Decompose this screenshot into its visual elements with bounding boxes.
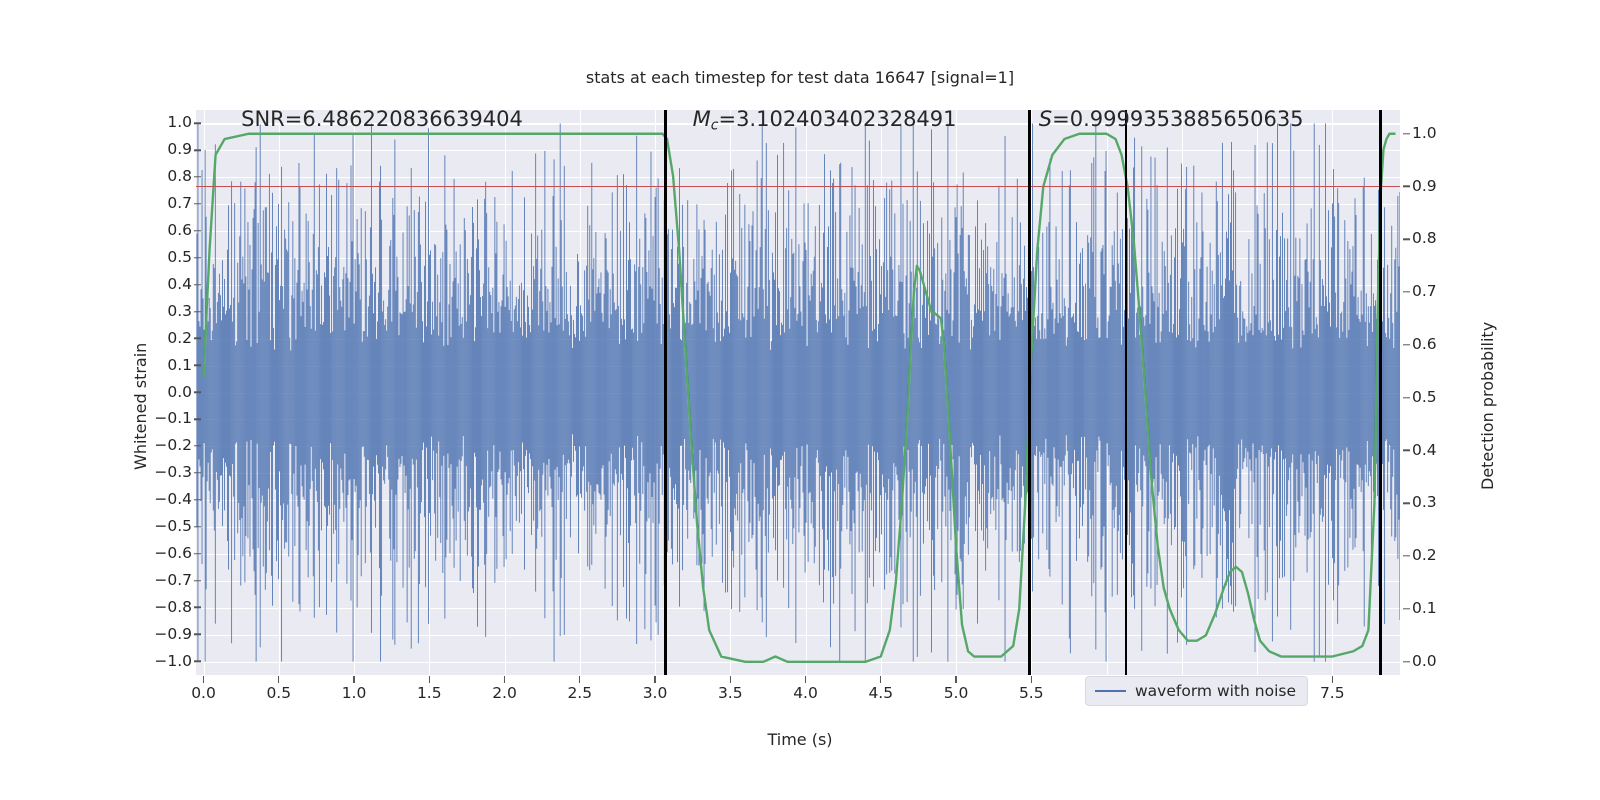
waveform-sample <box>958 254 959 531</box>
waveform-sample <box>1021 284 1022 497</box>
waveform-sample <box>1058 323 1059 460</box>
detection-threshold-line <box>196 186 1400 188</box>
waveform-sample <box>977 200 978 623</box>
waveform-sample <box>659 268 660 524</box>
tick-mark <box>194 634 201 635</box>
waveform-sample <box>415 257 416 551</box>
waveform-sample <box>302 291 303 486</box>
waveform-sample <box>941 217 942 582</box>
waveform-sample <box>1233 170 1234 611</box>
x-axis-tick-label: 0.5 <box>266 686 291 702</box>
waveform-sample <box>1344 220 1345 571</box>
waveform-sample <box>248 222 249 538</box>
waveform-sample <box>413 305 414 465</box>
tick-mark <box>353 676 354 683</box>
waveform-sample <box>240 182 241 586</box>
waveform-sample <box>726 311 727 482</box>
waveform-sample <box>802 326 803 446</box>
waveform-sample <box>525 322 526 456</box>
waveform-sample <box>558 278 559 500</box>
waveform-sample <box>749 224 750 542</box>
waveform-sample <box>576 306 577 496</box>
y-axis-left-tick-label: 0.5 <box>167 250 192 266</box>
waveform-sample <box>895 315 896 466</box>
waveform-sample <box>295 339 296 446</box>
waveform-sample <box>1345 278 1346 482</box>
waveform-sample <box>1223 298 1224 509</box>
waveform-sample <box>588 300 589 482</box>
waveform-sample <box>438 336 439 442</box>
waveform-sample <box>718 323 719 474</box>
waveform-sample <box>1326 296 1327 478</box>
waveform-sample <box>1104 274 1105 526</box>
waveform-sample <box>218 293 219 509</box>
waveform-sample <box>643 323 644 466</box>
waveform-sample <box>1236 285 1237 479</box>
waveform-sample <box>253 218 254 549</box>
waveform-sample <box>1012 217 1013 551</box>
waveform-sample <box>1202 192 1203 578</box>
waveform-sample <box>1389 339 1390 445</box>
waveform-sample <box>473 223 474 593</box>
waveform-sample <box>1203 231 1204 528</box>
waveform-sample <box>662 278 663 496</box>
waveform-sample <box>1086 339 1087 458</box>
waveform-sample <box>951 269 952 540</box>
waveform-sample <box>337 310 338 464</box>
waveform-sample <box>571 315 572 476</box>
waveform-sample <box>702 256 703 563</box>
waveform-sample <box>579 341 580 447</box>
x-axis-tick-label: 1.5 <box>417 686 442 702</box>
waveform-sample <box>1227 238 1228 559</box>
waveform-sample <box>884 198 885 590</box>
waveform-sample <box>466 321 467 466</box>
waveform-sample <box>1274 336 1275 459</box>
waveform-sample <box>859 208 860 553</box>
waveform-sample <box>1146 199 1147 587</box>
waveform-sample <box>603 322 604 466</box>
tick-mark <box>203 676 204 683</box>
waveform-sample <box>893 317 894 464</box>
waveform-sample <box>414 210 415 559</box>
waveform-sample <box>572 348 573 434</box>
x-axis-tick-label: 0.0 <box>191 686 216 702</box>
waveform-sample <box>424 266 425 517</box>
waveform-sample <box>440 258 441 543</box>
waveform-sample <box>1235 192 1236 606</box>
waveform-sample <box>760 247 761 516</box>
waveform-sample <box>999 186 1000 600</box>
x-axis-tick-label: 5.0 <box>944 686 969 702</box>
waveform-sample <box>482 296 483 479</box>
waveform-sample <box>488 267 489 517</box>
waveform-sample <box>934 248 935 590</box>
tick-mark <box>194 553 201 554</box>
waveform-sample <box>540 269 541 510</box>
waveform-sample <box>332 331 333 459</box>
waveform-sample <box>824 154 825 569</box>
waveform-sample <box>1020 222 1021 551</box>
waveform-sample <box>1332 204 1333 559</box>
waveform-sample <box>830 170 831 647</box>
waveform-sample <box>1006 274 1007 540</box>
waveform-sample <box>249 290 250 486</box>
waveform-sample <box>860 308 861 473</box>
waveform-sample <box>1362 315 1363 481</box>
waveform-sample <box>899 265 900 520</box>
waveform-sample <box>531 234 532 536</box>
waveform-sample <box>467 259 468 556</box>
waveform-sample <box>354 324 355 479</box>
waveform-sample <box>1108 321 1109 466</box>
waveform-sample <box>1093 157 1094 583</box>
waveform-sample <box>640 284 641 511</box>
waveform-sample <box>935 324 936 478</box>
waveform-sample <box>199 321 200 459</box>
waveform-sample <box>1388 318 1389 462</box>
waveform-sample <box>894 213 895 573</box>
waveform-sample <box>1278 335 1279 446</box>
waveform-sample <box>632 329 633 448</box>
waveform-sample <box>775 212 776 550</box>
waveform-sample <box>299 163 300 604</box>
waveform-sample <box>801 312 802 467</box>
waveform-sample <box>1309 307 1310 454</box>
waveform-sample <box>607 270 608 524</box>
waveform-sample <box>1180 278 1181 496</box>
waveform-sample <box>1089 288 1090 490</box>
waveform-sample <box>227 250 228 541</box>
waveform-sample <box>1112 245 1113 596</box>
waveform-sample <box>1261 333 1262 452</box>
waveform-sample <box>661 344 662 446</box>
waveform-sample <box>877 341 878 452</box>
tick-mark <box>1403 344 1410 345</box>
waveform-sample <box>614 302 615 485</box>
waveform-sample <box>800 286 801 508</box>
waveform-sample <box>272 193 273 606</box>
waveform-sample <box>449 304 450 468</box>
y-axis-left-tick-label: −0.9 <box>154 627 192 643</box>
waveform-sample <box>472 207 473 588</box>
waveform-sample <box>226 311 227 467</box>
waveform-sample <box>1312 334 1313 461</box>
waveform-sample <box>293 298 294 473</box>
waveform-sample <box>544 151 545 618</box>
tick-mark <box>1332 676 1333 683</box>
waveform-sample <box>366 259 367 506</box>
waveform-sample <box>1123 327 1124 467</box>
waveform-sample <box>929 234 930 530</box>
waveform-sample <box>758 309 759 504</box>
waveform-sample <box>537 236 538 529</box>
waveform-sample <box>386 331 387 446</box>
waveform-sample <box>394 140 395 645</box>
waveform-sample <box>1081 337 1082 437</box>
annotation-value: =0.9999353885650635 <box>1052 107 1303 131</box>
waveform-sample <box>842 301 843 505</box>
waveform-sample <box>711 268 712 529</box>
tick-mark <box>194 122 201 123</box>
waveform-sample <box>721 301 722 507</box>
waveform-sample <box>1321 306 1322 509</box>
waveform-sample <box>761 178 762 597</box>
waveform-sample <box>1306 259 1307 488</box>
waveform-sample <box>679 168 680 607</box>
waveform-sample <box>921 348 922 446</box>
x-axis-tick-label: 2.0 <box>492 686 517 702</box>
waveform-sample <box>338 180 339 564</box>
waveform-sample <box>563 331 564 455</box>
waveform-sample <box>959 343 960 457</box>
waveform-sample <box>403 232 404 587</box>
waveform-sample <box>1251 323 1252 471</box>
waveform-sample <box>1097 318 1098 472</box>
waveform-sample <box>654 301 655 483</box>
waveform-sample <box>1186 167 1187 645</box>
waveform-sample <box>971 320 972 457</box>
waveform-sample <box>918 338 919 444</box>
waveform-sample <box>235 345 236 443</box>
waveform-sample <box>1156 343 1157 457</box>
waveform-sample <box>329 296 330 515</box>
waveform-sample <box>223 307 224 458</box>
waveform-sample <box>1002 273 1003 500</box>
waveform-sample <box>1286 280 1287 516</box>
waveform-sample <box>242 257 243 556</box>
waveform-sample <box>454 179 455 568</box>
waveform-sample <box>252 269 253 498</box>
y-axis-left-tick-label: −0.1 <box>154 411 192 427</box>
waveform-sample <box>239 236 240 520</box>
waveform-sample <box>214 268 215 531</box>
waveform-sample <box>1204 325 1205 461</box>
waveform-sample <box>1221 285 1222 495</box>
waveform-sample <box>1353 246 1354 550</box>
waveform-sample <box>1045 339 1046 439</box>
waveform-sample <box>423 342 424 442</box>
waveform-sample <box>997 306 998 489</box>
waveform-sample <box>984 311 985 465</box>
tick-mark <box>654 676 655 683</box>
waveform-sample <box>1167 148 1168 654</box>
waveform-sample <box>496 222 497 569</box>
x-axis-tick-label: 3.0 <box>643 686 668 702</box>
waveform-sample <box>282 286 283 520</box>
waveform-sample <box>675 288 676 485</box>
waveform-sample <box>1037 316 1038 493</box>
waveform-sample <box>289 338 290 444</box>
waveform-sample <box>1336 327 1337 449</box>
waveform-sample <box>569 335 570 463</box>
waveform-sample <box>813 271 814 528</box>
waveform-sample <box>634 264 635 495</box>
waveform-sample <box>601 272 602 499</box>
waveform-sample <box>559 324 560 477</box>
waveform-sample <box>1346 338 1347 448</box>
waveform-sample <box>314 134 315 618</box>
waveform-sample <box>858 272 859 491</box>
waveform-sample <box>1106 151 1107 662</box>
waveform-sample <box>376 339 377 455</box>
waveform-sample <box>1300 238 1301 516</box>
waveform-sample <box>988 284 989 493</box>
waveform-sample <box>889 189 890 572</box>
waveform-sample <box>418 212 419 643</box>
waveform-sample <box>674 307 675 500</box>
waveform-sample <box>961 206 962 561</box>
waveform-sample <box>1343 302 1344 479</box>
waveform-sample <box>1351 284 1352 499</box>
waveform-sample <box>1347 241 1348 568</box>
legend-label-waveform: waveform with noise <box>1135 682 1296 700</box>
waveform-sample <box>1393 348 1394 450</box>
waveform-sample <box>387 307 388 457</box>
waveform-sample <box>570 286 571 538</box>
waveform-sample <box>925 318 926 487</box>
waveform-sample <box>765 229 766 536</box>
waveform-sample <box>543 330 544 462</box>
waveform-sample <box>1213 332 1214 448</box>
waveform-sample <box>261 265 262 503</box>
waveform-sample <box>371 123 372 632</box>
waveform-sample <box>794 308 795 477</box>
waveform-sample <box>875 206 876 551</box>
y-axis-right-label: Detection probability <box>1478 322 1497 490</box>
waveform-sample <box>1003 296 1004 498</box>
waveform-sample <box>728 326 729 450</box>
waveform-sample <box>360 299 361 500</box>
tick-mark <box>194 338 201 339</box>
waveform-sample <box>1198 319 1199 481</box>
waveform-sample <box>266 207 267 573</box>
waveform-sample <box>1319 145 1320 657</box>
waveform-sample <box>978 309 979 490</box>
waveform-sample <box>967 294 968 482</box>
waveform-sample <box>1237 318 1238 469</box>
waveform-sample <box>490 295 491 486</box>
waveform-sample <box>465 230 466 540</box>
waveform-sample <box>1148 273 1149 532</box>
waveform-sample <box>975 226 976 531</box>
waveform-sample <box>1397 196 1398 559</box>
waveform-sample <box>901 123 902 627</box>
waveform-sample <box>290 351 291 445</box>
waveform-sample <box>1048 222 1049 569</box>
waveform-sample <box>1005 136 1006 662</box>
waveform-sample <box>774 280 775 496</box>
waveform-sample <box>451 337 452 464</box>
waveform-sample <box>1142 287 1143 507</box>
waveform-sample <box>334 267 335 504</box>
waveform-sample <box>1391 226 1392 537</box>
waveform-sample <box>933 182 934 575</box>
waveform-sample <box>534 279 535 480</box>
waveform-sample <box>532 310 533 467</box>
waveform-sample <box>255 182 256 595</box>
waveform-sample <box>367 337 368 460</box>
waveform-sample <box>793 253 794 529</box>
waveform-sample <box>561 220 562 578</box>
waveform-sample <box>709 291 710 476</box>
waveform-sample <box>995 294 996 530</box>
waveform-sample <box>428 128 429 624</box>
waveform-sample <box>333 276 334 534</box>
waveform-sample <box>429 255 430 513</box>
waveform-sample <box>853 268 854 510</box>
waveform-sample <box>653 236 654 523</box>
waveform-sample <box>869 141 870 578</box>
waveform-sample <box>591 163 592 565</box>
waveform-sample <box>837 278 838 521</box>
waveform-sample <box>744 205 745 598</box>
waveform-sample <box>836 319 837 470</box>
waveform-sample <box>683 247 684 505</box>
y-axis-left-tick-label: 0.3 <box>167 304 192 320</box>
waveform-sample <box>1056 227 1057 523</box>
waveform-sample <box>1311 208 1312 532</box>
waveform-sample <box>1262 328 1263 446</box>
waveform-sample <box>1098 338 1099 437</box>
waveform-sample <box>313 234 314 576</box>
waveform-sample <box>1132 229 1133 564</box>
waveform-sample <box>538 325 539 469</box>
waveform-sample <box>1170 275 1171 514</box>
waveform-sample <box>911 272 912 512</box>
waveform-sample <box>919 342 920 440</box>
waveform-sample <box>708 282 709 504</box>
y-axis-right-tick-label: 0.5 <box>1412 390 1437 406</box>
waveform-sample <box>994 331 995 457</box>
waveform-sample <box>364 331 365 457</box>
waveform-sample <box>1313 259 1314 514</box>
waveform-sample <box>874 329 875 452</box>
waveform-sample <box>1367 346 1368 441</box>
waveform-sample <box>671 249 672 549</box>
waveform-sample <box>642 267 643 494</box>
waveform-sample <box>897 301 898 481</box>
y-axis-left-tick-label: −0.2 <box>154 438 192 454</box>
waveform-sample <box>455 278 456 489</box>
waveform-sample <box>548 289 549 496</box>
waveform-sample <box>599 279 600 493</box>
waveform-sample <box>507 287 508 495</box>
waveform-sample <box>764 319 765 455</box>
waveform-sample <box>1164 251 1165 524</box>
waveform-sample <box>986 273 987 528</box>
waveform-sample <box>1050 159 1051 577</box>
waveform-sample <box>1165 266 1166 518</box>
waveform-sample <box>950 240 951 511</box>
waveform-sample <box>878 324 879 460</box>
waveform-sample <box>626 185 627 618</box>
waveform-sample <box>883 262 884 487</box>
waveform-sample <box>390 240 391 561</box>
waveform-sample <box>230 305 231 477</box>
waveform-sample <box>957 184 958 594</box>
waveform-sample <box>1057 280 1058 507</box>
waveform-sample <box>407 206 408 622</box>
x-axis-label: Time (s) <box>0 730 1600 749</box>
waveform-sample <box>945 273 946 526</box>
waveform-sample <box>699 229 700 565</box>
waveform-sample <box>1296 301 1297 469</box>
waveform-sample <box>1234 313 1235 489</box>
waveform-sample <box>1257 205 1258 557</box>
waveform-sample <box>784 333 785 452</box>
y-axis-right-tick-label: 0.7 <box>1412 284 1437 300</box>
